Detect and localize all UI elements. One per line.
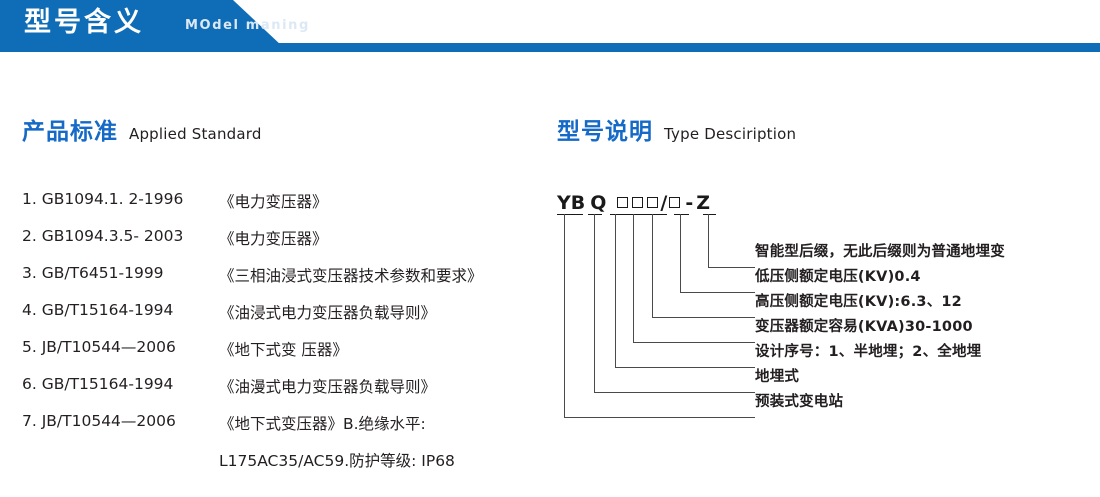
- leader-line-vertical-2: [594, 214, 595, 392]
- code-segment-z: Z: [696, 192, 710, 214]
- leader-line-vertical-5: [652, 214, 653, 317]
- standard-code: 6. GB/T15164-1994: [22, 375, 219, 393]
- standard-code: 7. JB/T10544—2006: [22, 412, 219, 430]
- list-item: 2. GB1094.3.5- 2003《电力变压器》: [22, 227, 552, 264]
- standard-code: 4. GB/T15164-1994: [22, 301, 219, 319]
- leader-line-vertical-1: [564, 214, 565, 417]
- standards-list: 1. GB1094.1. 2-1996《电力变压器》 2. GB1094.3.5…: [22, 190, 552, 486]
- type-code-string: YBQ/-Z: [557, 192, 710, 214]
- section-heading-en: Type Desciription: [664, 125, 796, 143]
- standard-continuation: L175AC35/AC59.防护等级: IP68: [22, 449, 552, 486]
- standard-name: 《电力变压器》: [219, 190, 328, 212]
- code-underline-q: [588, 214, 602, 215]
- list-item: 1. GB1094.1. 2-1996《电力变压器》: [22, 190, 552, 227]
- list-item: 7. JB/T10544—2006《地下式变压器》B.绝缘水平:: [22, 412, 552, 449]
- section-heading-en: Applied Standard: [129, 125, 262, 143]
- leader-line-horizontal-7: [708, 267, 755, 268]
- leader-line-horizontal-6: [680, 292, 755, 293]
- page-subtitle: MOdel maning: [185, 18, 310, 33]
- code-segment-q: Q: [590, 192, 606, 214]
- code-underline-z: [703, 214, 716, 215]
- section-heading-applied-standard: 产品标准Applied Standard: [22, 112, 262, 146]
- type-label: 设计序号：1、半地埋；2、全地埋: [755, 340, 1100, 365]
- code-segment-dash: -: [685, 192, 693, 214]
- type-label: 变压器额定容易(KVA)30-1000: [755, 315, 1100, 340]
- list-item: 6. GB/T15164-1994《油漫式电力变压器负载导则》: [22, 375, 552, 412]
- list-item: 3. GB/T6451-1999《三相油浸式变压器技术参数和要求》: [22, 264, 552, 301]
- standard-name: 《地下式变压器》B.绝缘水平:: [219, 412, 426, 434]
- code-underline-lv: [674, 214, 689, 215]
- type-label: 预装式变电站: [755, 390, 1100, 415]
- standard-name: 《油漫式电力变压器负载导则》: [219, 375, 436, 397]
- code-box-lv: [669, 197, 680, 208]
- standard-name: 《地下式变 压器》: [219, 338, 348, 360]
- code-segment-yb: YB: [557, 192, 585, 214]
- leader-line-horizontal-2: [594, 392, 755, 393]
- section-heading-type-description: 型号说明Type Desciription: [557, 112, 796, 146]
- leader-line-vertical-4: [633, 214, 634, 342]
- section-heading-cn: 产品标准: [22, 119, 118, 145]
- type-label: 智能型后缀，无此后缀则为普通地埋变: [755, 240, 1100, 265]
- code-box-capacity: [617, 197, 628, 208]
- standard-code: 1. GB1094.1. 2-1996: [22, 190, 219, 208]
- standard-name: 《三相油浸式变压器技术参数和要求》: [219, 264, 483, 286]
- type-label: 低压侧额定电压(KV)0.4: [755, 265, 1100, 290]
- code-underline-yb: [557, 214, 583, 215]
- standard-name: 《油浸式电力变压器负载导则》: [219, 301, 436, 323]
- list-item: 4. GB/T15164-1994《油浸式电力变压器负载导则》: [22, 301, 552, 338]
- page-title: 型号含义: [24, 6, 144, 40]
- standard-code: 2. GB1094.3.5- 2003: [22, 227, 219, 245]
- leader-line-horizontal-1: [564, 417, 755, 418]
- code-underline-boxes: [610, 214, 667, 215]
- banner-strip: [0, 43, 1100, 52]
- leader-line-vertical-3: [615, 214, 616, 367]
- leader-line-horizontal-4: [633, 342, 755, 343]
- section-heading-cn: 型号说明: [557, 119, 653, 145]
- code-box-design: [647, 197, 658, 208]
- leader-line-horizontal-3: [615, 367, 755, 368]
- list-item: 5. JB/T10544—2006《地下式变 压器》: [22, 338, 552, 375]
- code-segment-slash: /: [660, 192, 667, 214]
- leader-line-horizontal-5: [652, 317, 755, 318]
- header-banner: 型号含义 MOdel maning: [0, 0, 1100, 56]
- type-label: 高压侧额定电压(KV):6.3、12: [755, 290, 1100, 315]
- type-description-labels: 智能型后缀，无此后缀则为普通地埋变 低压侧额定电压(KV)0.4 高压侧额定电压…: [755, 240, 1100, 415]
- standard-code: 3. GB/T6451-1999: [22, 264, 219, 282]
- standard-name: 《电力变压器》: [219, 227, 328, 249]
- standard-code: 5. JB/T10544—2006: [22, 338, 219, 356]
- type-label: 地埋式: [755, 365, 1100, 390]
- leader-line-vertical-7: [708, 214, 709, 267]
- code-box-hv: [632, 197, 643, 208]
- leader-line-vertical-6: [680, 214, 681, 292]
